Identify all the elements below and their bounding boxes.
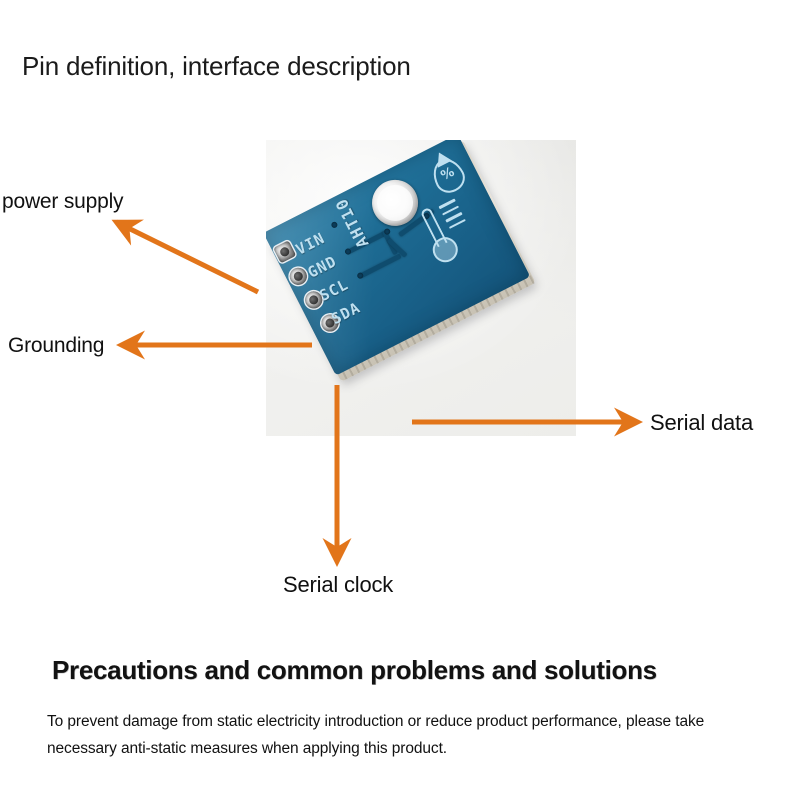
page-title: Pin definition, interface description (22, 51, 411, 82)
page-root: Pin definition, interface description (0, 0, 800, 800)
callout-label-serial-clock: Serial clock (283, 572, 393, 598)
callout-label-grounding: Grounding (8, 334, 104, 358)
callout-label-power-supply: power supply (2, 190, 123, 214)
callout-label-serial-data: Serial data (650, 410, 753, 436)
precautions-paragraph: To prevent damage from static electricit… (47, 708, 737, 762)
section-heading-precautions: Precautions and common problems and solu… (52, 655, 657, 686)
percent-symbol: % (433, 162, 463, 187)
product-photo: VIN GND SCL SDA AHT10 % (266, 140, 576, 436)
arrow-power-supply (116, 222, 258, 292)
